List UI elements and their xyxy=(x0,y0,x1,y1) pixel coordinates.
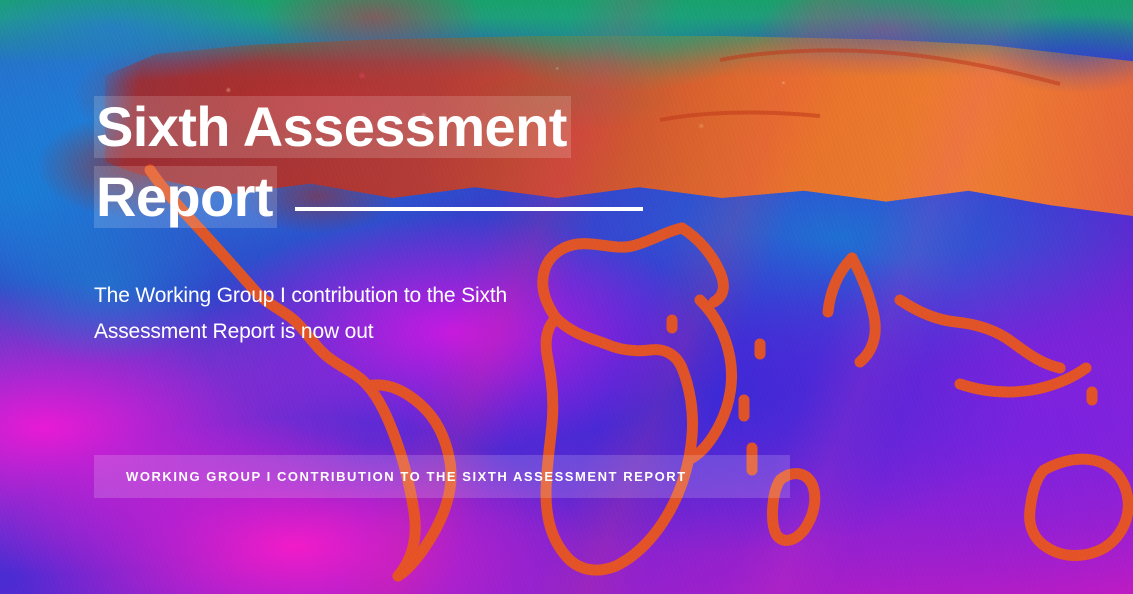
report-banner[interactable]: Working Group I contribution to the Sixt… xyxy=(94,455,790,498)
title-underline-rule xyxy=(295,207,643,211)
page-title-line-2: Report xyxy=(94,166,277,228)
report-banner-label: Working Group I contribution to the Sixt… xyxy=(94,469,687,484)
page-title-line-1: Sixth Assessment xyxy=(94,96,571,158)
hero-subtitle: The Working Group I contribution to the … xyxy=(94,278,594,350)
hero-banner: Sixth Assessment Report The Working Grou… xyxy=(0,0,1133,594)
page-title: Sixth Assessment Report xyxy=(94,96,654,228)
